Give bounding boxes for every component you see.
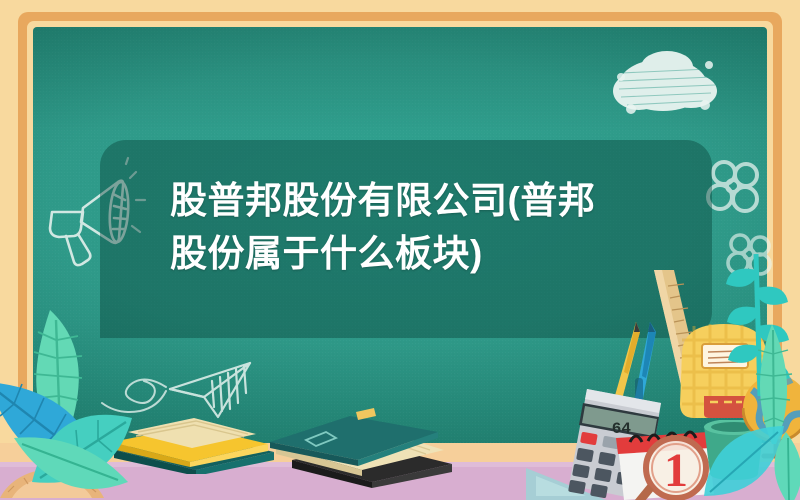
cloud-chalk-scribble [605,35,735,145]
caption-line-1: 股普邦股份有限公司(普邦 [170,175,640,228]
book-stack-center [262,388,462,488]
caption-line-2: 股份属于什么板块) [170,228,640,281]
banner-stage: 股普邦股份有限公司(普邦 股份属于什么板块) [0,0,800,500]
leaf-plant [760,430,800,500]
leaf-plant [12,430,132,500]
page-title: 股普邦股份有限公司(普邦 股份属于什么板块) [170,175,640,280]
magnifier-number: 1 [664,444,688,497]
